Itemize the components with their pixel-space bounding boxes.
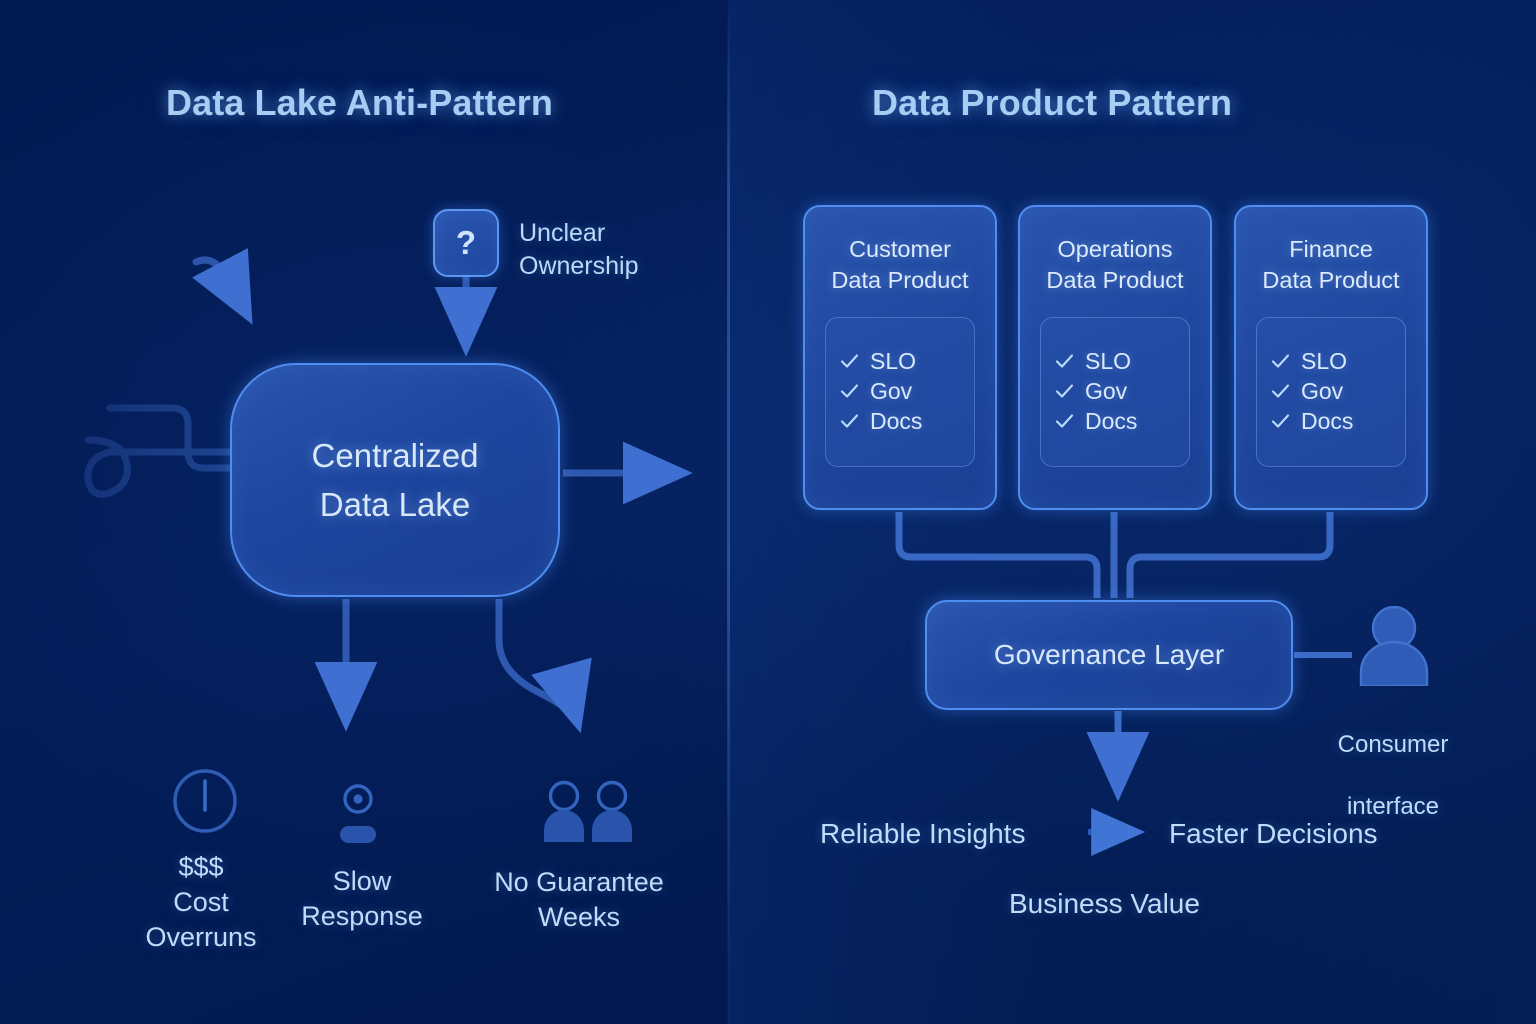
data-product-title: Finance Data Product: [1262, 234, 1399, 297]
people-icon: [536, 780, 638, 849]
attribute-label: SLO: [1085, 348, 1131, 375]
data-product-attribute-box: SLO Gov Docs: [1256, 317, 1406, 467]
unclear-ownership-badge[interactable]: ?: [433, 209, 499, 277]
attribute-item: SLO: [1055, 348, 1189, 375]
right-panel-title: Data Product Pattern: [872, 82, 1232, 124]
attribute-label: Gov: [870, 378, 912, 405]
faster-decisions-label: Faster Decisions: [1169, 816, 1378, 852]
data-lake-title-line2: Data Lake: [320, 480, 470, 529]
data-product-card-finance[interactable]: Finance Data Product SLO Gov Docs: [1234, 205, 1428, 510]
centralized-data-lake-node[interactable]: Centralized Data Lake: [230, 363, 560, 597]
diagram-canvas: Data Lake Anti-Pattern ? Unclear Ownersh…: [0, 0, 1536, 1024]
attribute-item: Docs: [1055, 408, 1189, 435]
unclear-ownership-label-line2: Ownership: [519, 250, 639, 283]
tangled-pipes: [88, 408, 238, 575]
data-product-attribute-box: SLO Gov Docs: [1040, 317, 1190, 467]
right-panel-background: [728, 0, 1536, 1024]
attribute-label: Docs: [1085, 408, 1137, 435]
data-product-title: Customer Data Product: [831, 234, 968, 297]
attribute-item: SLO: [1271, 348, 1405, 375]
inbound-arrow: [196, 260, 248, 316]
attribute-label: Docs: [1301, 408, 1353, 435]
attribute-item: Docs: [840, 408, 974, 435]
question-mark-icon: ?: [456, 224, 476, 262]
check-icon: [1055, 352, 1074, 371]
data-product-card-operations[interactable]: Operations Data Product SLO Gov Docs: [1018, 205, 1212, 510]
unclear-ownership-label: Unclear Ownership: [519, 217, 639, 284]
consumer-label-line1: Consumer: [1300, 730, 1486, 761]
attribute-label: SLO: [1301, 348, 1347, 375]
attribute-item: SLO: [840, 348, 974, 375]
check-icon: [1271, 382, 1290, 401]
data-product-name-line1: Finance: [1262, 234, 1399, 265]
panel-divider: [727, 0, 730, 1024]
check-icon: [1055, 382, 1074, 401]
attribute-label: Docs: [870, 408, 922, 435]
product-to-governance-connectors: [899, 512, 1330, 598]
clock-icon: [172, 768, 238, 839]
check-icon: [840, 412, 859, 431]
slow-response-label: Slow Response: [262, 864, 462, 934]
check-icon: [840, 352, 859, 371]
data-product-name-line2: Data Product: [1262, 265, 1399, 296]
left-panel-title: Data Lake Anti-Pattern: [166, 82, 553, 124]
governance-layer-node[interactable]: Governance Layer: [925, 600, 1293, 710]
business-value-label: Business Value: [1009, 886, 1200, 922]
attribute-label: Gov: [1301, 378, 1343, 405]
governance-layer-label: Governance Layer: [994, 639, 1224, 671]
reliable-insights-label: Reliable Insights: [820, 816, 1025, 852]
no-guarantee-label: No Guarantee Weeks: [462, 865, 696, 935]
data-product-card-customer[interactable]: Customer Data Product SLO Gov Docs: [803, 205, 997, 510]
attribute-item: Gov: [1271, 378, 1405, 405]
data-product-attribute-box: SLO Gov Docs: [825, 317, 975, 467]
data-product-name-line2: Data Product: [831, 265, 968, 296]
attribute-item: Docs: [1271, 408, 1405, 435]
check-icon: [840, 382, 859, 401]
check-icon: [1271, 412, 1290, 431]
attribute-label: SLO: [870, 348, 916, 375]
data-product-name-line1: Customer: [831, 234, 968, 265]
data-product-name-line2: Data Product: [1046, 265, 1183, 296]
attribute-item: Gov: [840, 378, 974, 405]
person-icon: [1355, 606, 1433, 691]
check-icon: [1271, 352, 1290, 371]
person-icon: [328, 782, 388, 849]
check-icon: [1055, 412, 1074, 431]
data-product-name-line1: Operations: [1046, 234, 1183, 265]
data-lake-title-line1: Centralized: [312, 431, 479, 480]
attribute-item: Gov: [1055, 378, 1189, 405]
unclear-ownership-label-line1: Unclear: [519, 217, 639, 250]
data-product-title: Operations Data Product: [1046, 234, 1183, 297]
datalake-down-arrow-2: [499, 599, 578, 724]
attribute-label: Gov: [1085, 378, 1127, 405]
